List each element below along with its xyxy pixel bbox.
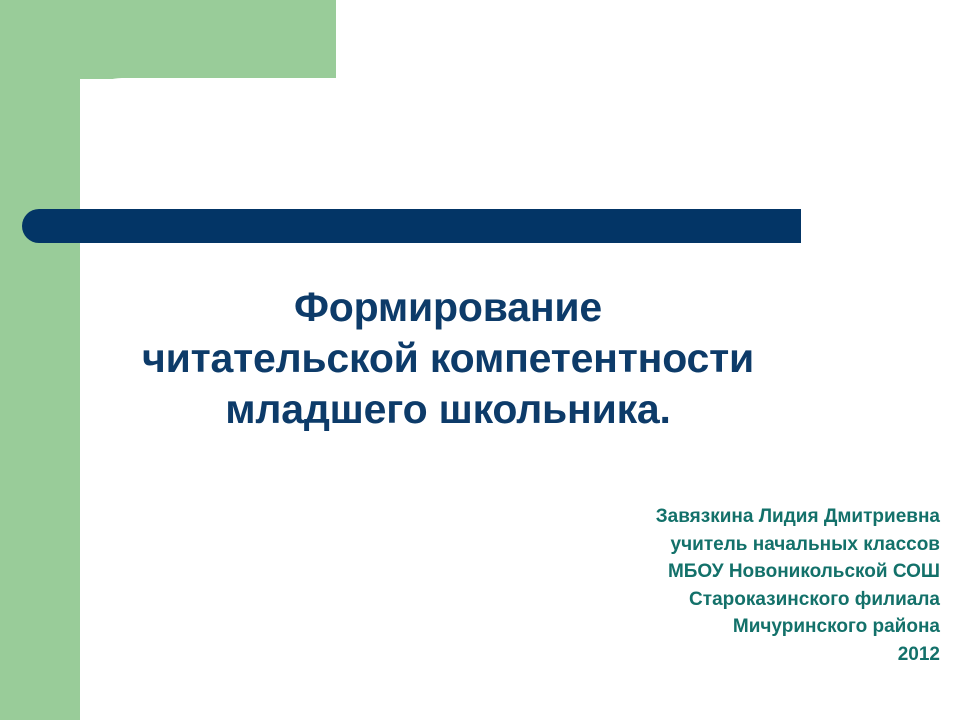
slide-title: Формирование читательской компетентности… xyxy=(38,282,858,435)
subtitle-author: Завязкина Лидия Дмитриевна xyxy=(420,503,940,531)
green-top-block-decoration xyxy=(0,0,336,79)
subtitle-role: учитель начальных классов xyxy=(420,531,940,559)
subtitle-school: МБОУ Новоникольской СОШ xyxy=(420,558,940,586)
title-line-3: младшего школьника. xyxy=(38,384,858,435)
slide-subtitle: Завязкина Лидия Дмитриевна учитель начал… xyxy=(420,503,940,668)
title-line-1: Формирование xyxy=(38,282,858,333)
title-line-2: читательской компетентности xyxy=(38,333,858,384)
subtitle-district: Мичуринского района xyxy=(420,613,940,641)
presentation-slide: Формирование читательской компетентности… xyxy=(0,0,960,720)
navy-accent-bar-decoration xyxy=(22,209,801,243)
subtitle-branch: Староказинского филиала xyxy=(420,586,940,614)
subtitle-year: 2012 xyxy=(420,641,940,669)
